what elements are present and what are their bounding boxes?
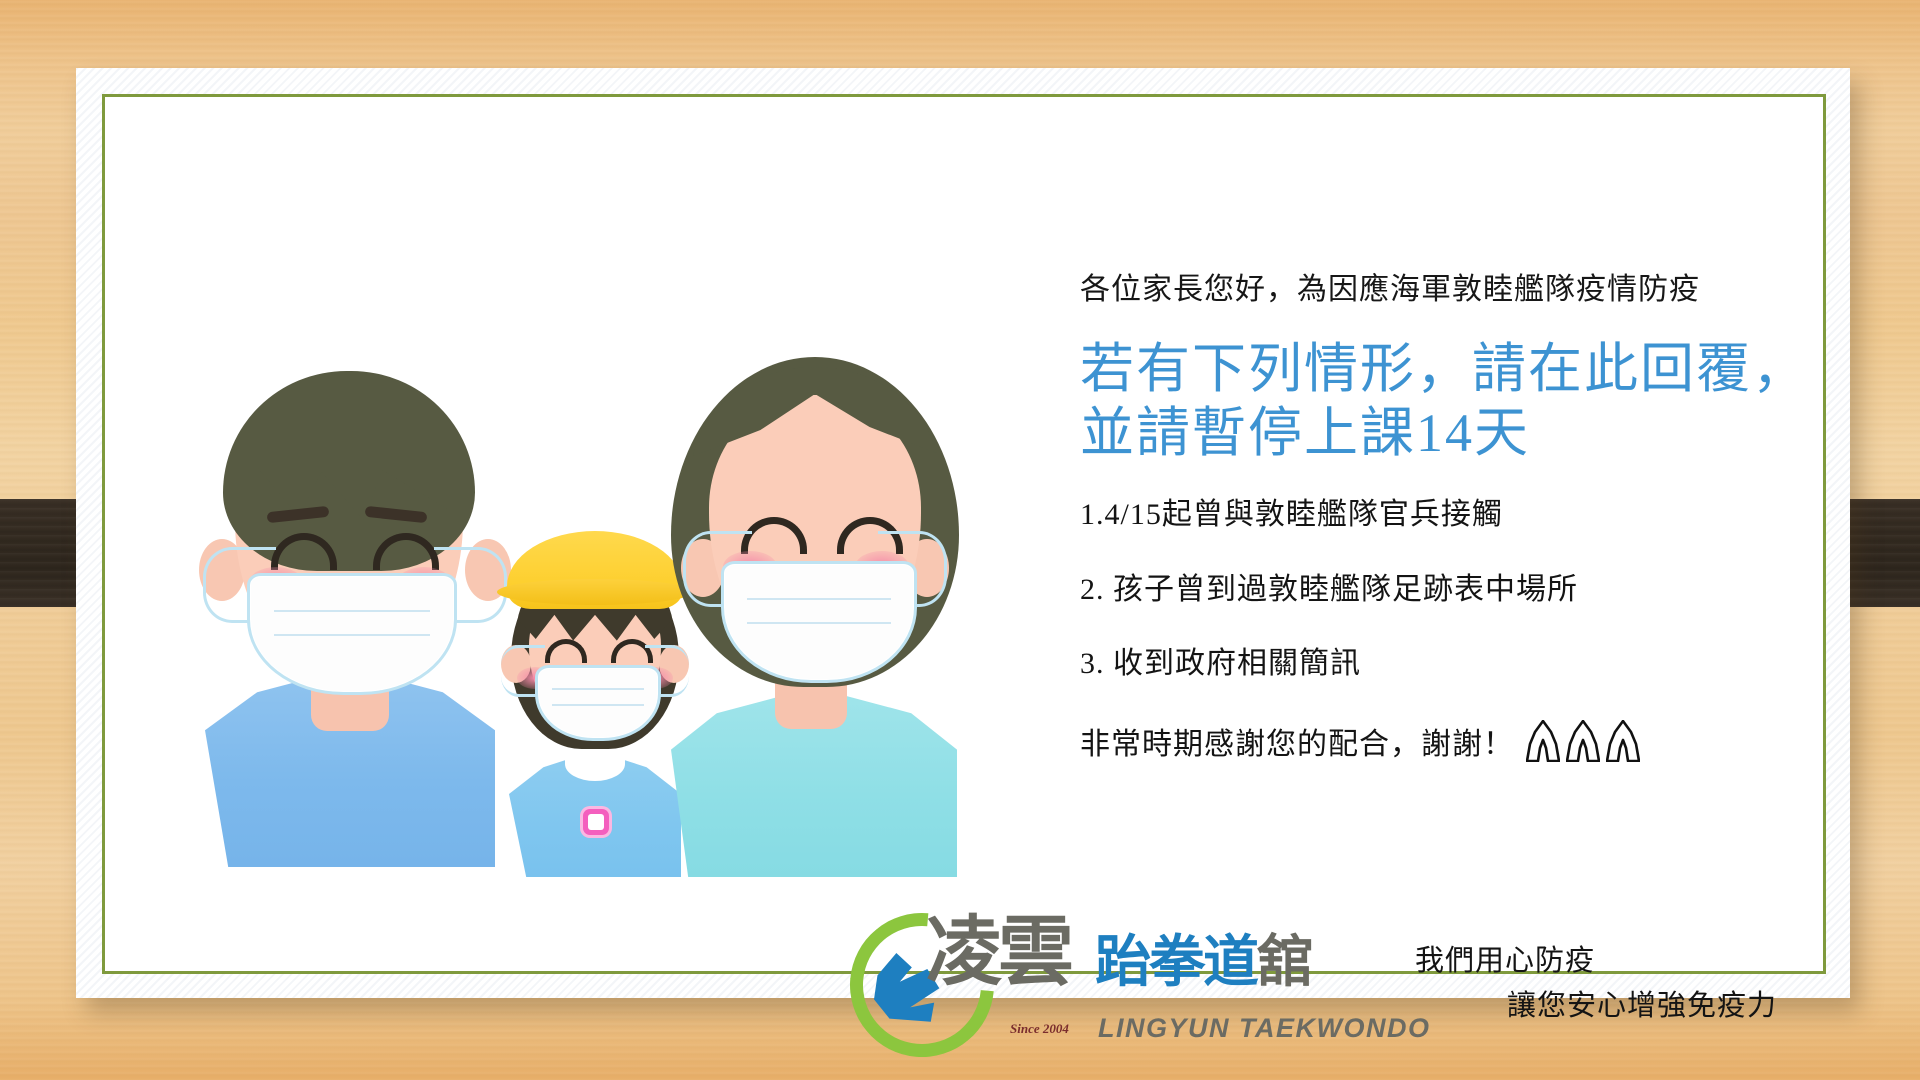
list-item: 3. 收到政府相關簡訊 [1080,644,1920,685]
mask-pleat [552,688,643,690]
headline-line-1: 若有下列情形，請在此回覆， [1080,338,1920,402]
logo-name-cjk2-gray: 舘 [1257,932,1311,994]
father-hair [223,371,475,571]
signature-block: 我們用心防疫 讓您安心增強免疫力 [1415,939,1777,1029]
praying-hands-group [1526,720,1640,762]
logo-name-cjk2: 跆拳道舘 [1095,935,1311,991]
lingyun-taekwondo-logo: 凌雲 跆拳道舘 Since 2004 LINGYUN TAEKWONDO [840,909,1290,1059]
list-item: 1.4/15起曾與敦睦艦隊官兵接觸 [1080,495,1920,536]
mask-pleat [274,610,429,612]
logo-latin-text: LINGYUN TAEKWONDO [1098,1013,1430,1044]
poster-root: 各位家長您好，為因應海軍敦睦艦隊疫情防疫 若有下列情形，請在此回覆， 並請暫停上… [0,0,1920,1080]
mask-pleat [552,704,643,706]
list-item: 2. 孩子曾到過敦睦艦隊足跡表中場所 [1080,570,1920,611]
logo-name-cjk2-blue: 跆拳道 [1095,932,1257,994]
family-illustration [195,287,1015,887]
child-collar [565,747,625,781]
poster-card: 各位家長您好，為因應海軍敦睦艦隊疫情防疫 若有下列情形，請在此回覆， 並請暫停上… [102,94,1826,974]
figure-mother [665,317,965,877]
greeting-line: 各位家長您好，為因應海軍敦睦艦隊疫情防疫 [1080,267,1920,312]
poster-mat: 各位家長您好，為因應海軍敦睦艦隊疫情防疫 若有下列情形，請在此回覆， 並請暫停上… [76,68,1850,998]
praying-hands-icon [1526,720,1560,762]
child-badge-icon [583,809,609,835]
headline: 若有下列情形，請在此回覆， 並請暫停上課14天 [1080,338,1920,465]
logo-name-cjk: 凌雲 [926,915,1070,991]
closing-text: 非常時期感謝您的配合，謝謝！ [1080,719,1514,763]
condition-list: 1.4/15起曾與敦睦艦隊官兵接觸 2. 孩子曾到過敦睦艦隊足跡表中場所 3. … [1080,495,1920,685]
mask-pleat [747,598,891,600]
mask-pleat [747,622,891,624]
father-face-mask [247,573,457,695]
figure-father [205,327,505,867]
child-hat-brim [497,579,693,605]
headline-line-2: 並請暫停上課14天 [1080,402,1920,466]
notice-content: 各位家長您好，為因應海軍敦睦艦隊疫情防疫 若有下列情形，請在此回覆， 並請暫停上… [1080,267,1920,763]
signature-line-1: 我們用心防疫 [1415,945,1595,977]
praying-hands-icon [1606,720,1640,762]
signature-line-2: 讓您安心增強免疫力 [1507,984,1777,1029]
logo-since-text: Since 2004 [1010,1021,1069,1037]
praying-hands-icon [1566,720,1600,762]
closing-line: 非常時期感謝您的配合，謝謝！ [1080,719,1920,763]
mask-pleat [274,634,429,636]
